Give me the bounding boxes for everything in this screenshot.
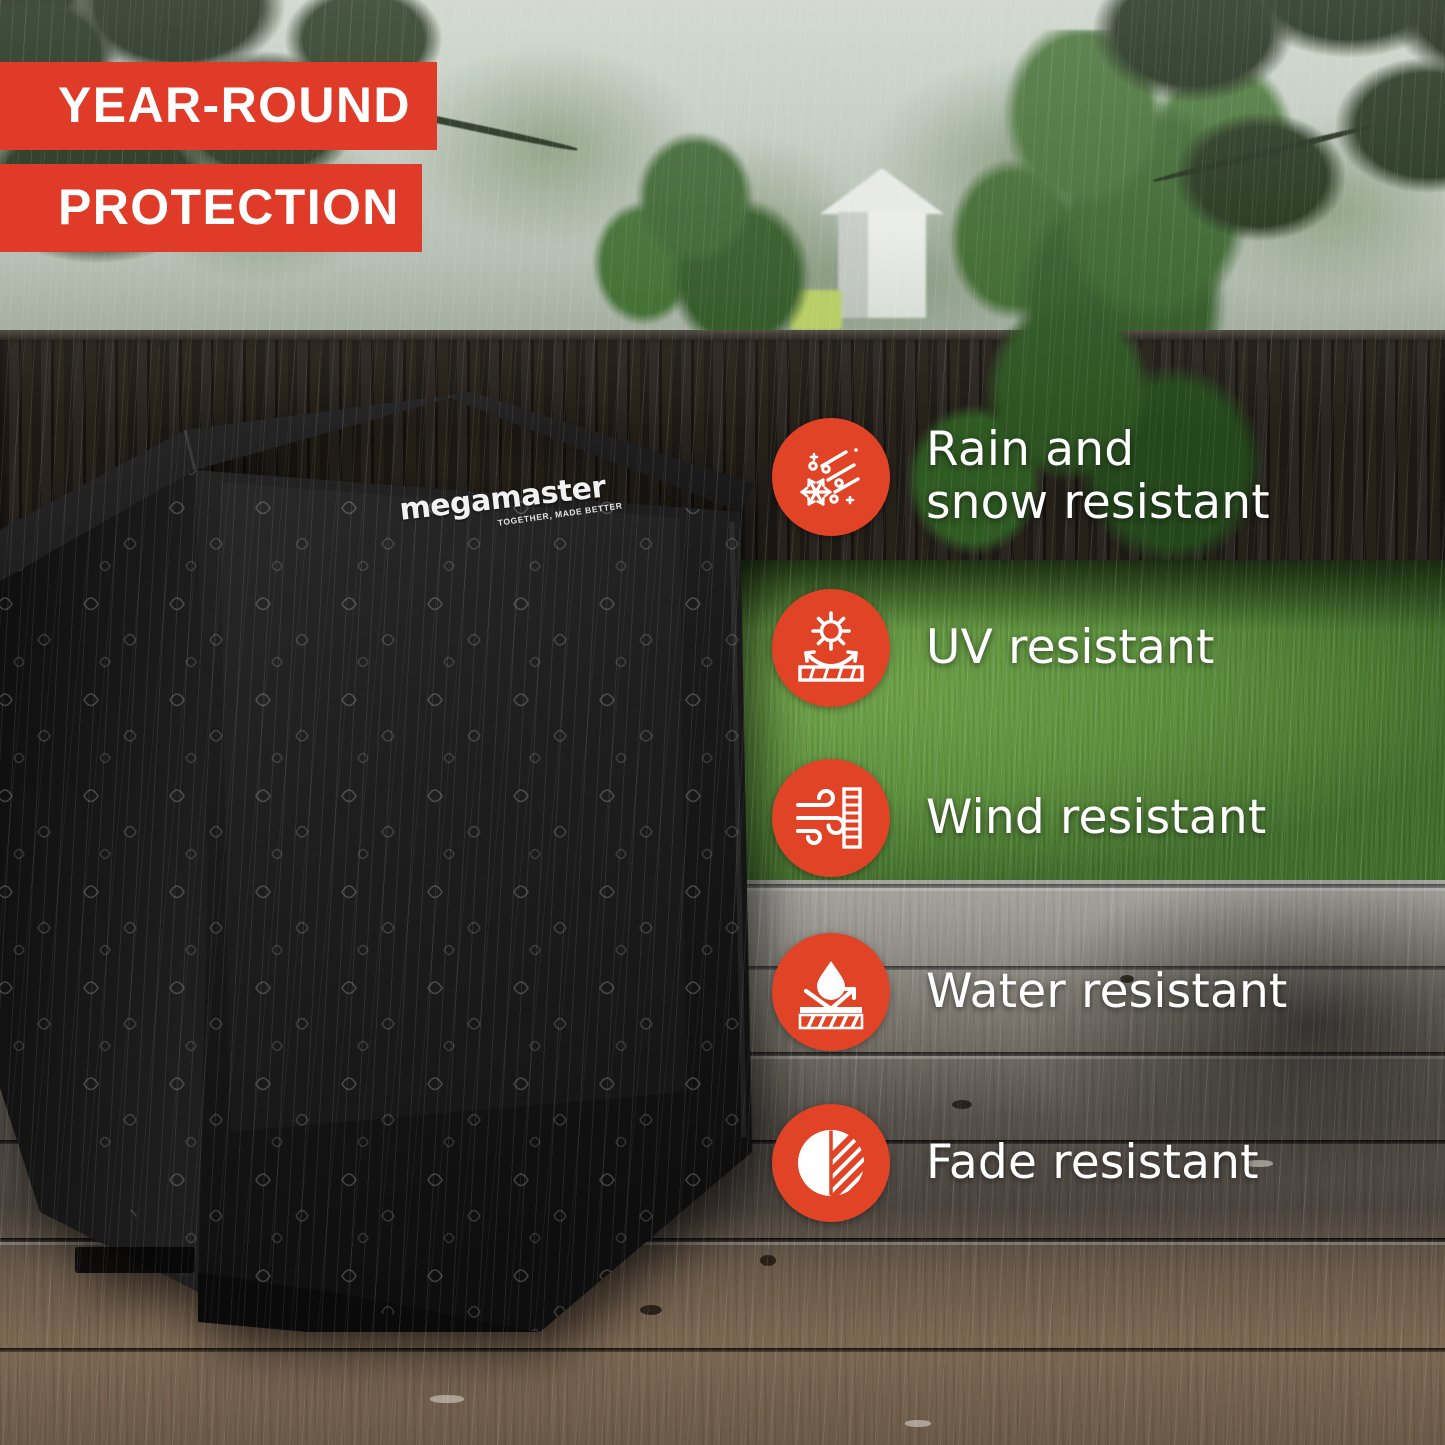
water-droplet-fabric-icon <box>772 933 890 1051</box>
headline-banners: YEAR-ROUND PROTECTION <box>0 62 437 252</box>
rain-snow-icon <box>772 418 890 536</box>
feature-item-wind: Wind resistant <box>772 759 1267 877</box>
feature-label-fade: Fade resistant <box>926 1137 1259 1190</box>
bbq-grill-cover <box>0 392 780 1332</box>
headline-line-2: PROTECTION <box>0 164 422 252</box>
foreground-tree-right <box>1025 0 1445 340</box>
feature-item-rain-snow: Rain and snow resistant <box>772 418 1270 536</box>
product-feature-graphic: megamaster TOGETHER, MADE BETTER YEAR-RO… <box>0 0 1445 1445</box>
feature-item-uv: UV resistant <box>772 589 1215 707</box>
feature-label-uv: UV resistant <box>926 622 1215 675</box>
uv-sun-fabric-icon <box>772 589 890 707</box>
headline-line-1: YEAR-ROUND <box>0 62 437 150</box>
feature-item-water: Water resistant <box>772 933 1288 1051</box>
feature-label-wind: Wind resistant <box>926 792 1267 845</box>
wind-fabric-icon <box>772 759 890 877</box>
fade-half-shaded-circle-icon <box>772 1104 890 1222</box>
feature-item-fade: Fade resistant <box>772 1104 1259 1222</box>
feature-label-rain-snow: Rain and snow resistant <box>926 424 1270 529</box>
feature-label-water: Water resistant <box>926 966 1288 1019</box>
